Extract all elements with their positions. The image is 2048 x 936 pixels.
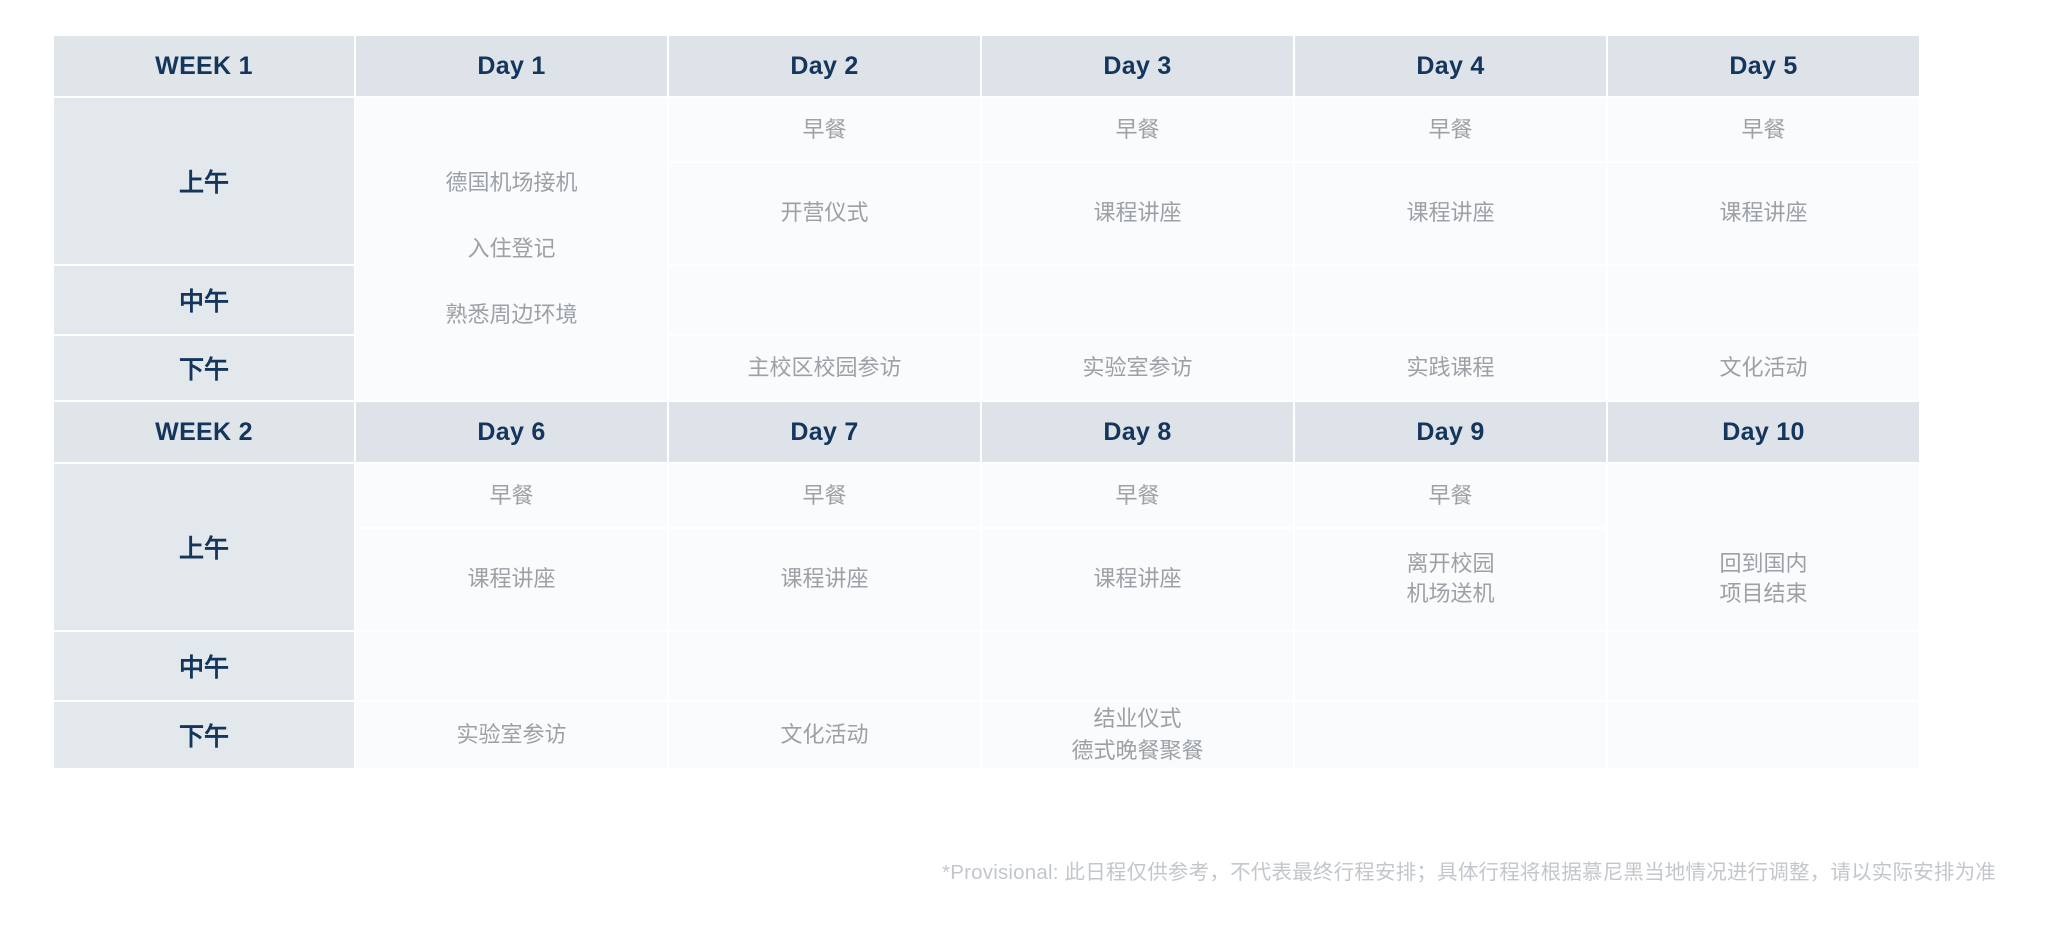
schedule-cell-afternoon: 结业仪式德式晚餐聚餐	[982, 702, 1293, 768]
meal-label: 早餐	[1295, 465, 1606, 529]
week-header-row: WEEK 2 Day 6 Day 7 Day 8 Day 9 Day 10	[54, 402, 1919, 462]
day-header: Day 1	[356, 36, 667, 96]
period-label-morning: 上午	[54, 98, 354, 264]
schedule-table-container: WEEK 1 Day 1 Day 2 Day 3 Day 4 Day 5 上午 …	[52, 34, 1908, 770]
activity-label: 课程讲座	[982, 529, 1293, 629]
day-header: Day 10	[1608, 402, 1919, 462]
activity-label: 课程讲座	[982, 163, 1293, 263]
schedule-cell-morning: 早餐 课程讲座	[982, 98, 1293, 264]
merged-day-cell: 德国机场接机 入住登记 熟悉周边环境	[356, 98, 667, 400]
day-header: Day 6	[356, 402, 667, 462]
activity-label: 回到国内项目结束	[1608, 529, 1919, 629]
schedule-cell-afternoon: 主校区校园参访	[669, 336, 980, 400]
schedule-cell-noon	[1608, 632, 1919, 700]
schedule-cell-morning: 早餐 开营仪式	[669, 98, 980, 264]
week-label: WEEK 2	[54, 402, 354, 462]
schedule-cell-afternoon	[1295, 702, 1606, 768]
week-label: WEEK 1	[54, 36, 354, 96]
period-row-noon: 中午	[54, 266, 1919, 334]
activity-label: 课程讲座	[356, 529, 667, 629]
schedule-cell-afternoon: 实验室参访	[356, 702, 667, 768]
meal-label: 早餐	[1295, 99, 1606, 163]
week-header-row: WEEK 1 Day 1 Day 2 Day 3 Day 4 Day 5	[54, 36, 1919, 96]
period-label-noon: 中午	[54, 632, 354, 700]
itinerary-table: WEEK 1 Day 1 Day 2 Day 3 Day 4 Day 5 上午 …	[52, 34, 1921, 770]
activity-label: 课程讲座	[669, 529, 980, 629]
schedule-cell-morning: 早餐 课程讲座	[669, 464, 980, 630]
activity-label: 课程讲座	[1608, 163, 1919, 263]
period-label-afternoon: 下午	[54, 702, 354, 768]
schedule-cell-noon	[1608, 266, 1919, 334]
day-header: Day 3	[982, 36, 1293, 96]
schedule-cell-noon	[982, 266, 1293, 334]
period-row-morning: 上午 早餐 课程讲座 早餐 课程讲座	[54, 464, 1919, 630]
schedule-cell-noon	[669, 266, 980, 334]
meal-label: 早餐	[669, 99, 980, 163]
schedule-cell-noon	[1295, 266, 1606, 334]
meal-label: 早餐	[982, 99, 1293, 163]
merged-day-line: 德国机场接机	[445, 167, 577, 199]
provisional-footnote: *Provisional: 此日程仅供参考，不代表最终行程安排；具体行程将根据慕…	[0, 855, 1996, 885]
day-header: Day 9	[1295, 402, 1606, 462]
schedule-cell-noon	[356, 632, 667, 700]
meal-label: 早餐	[669, 465, 980, 529]
schedule-cell-afternoon: 实践课程	[1295, 336, 1606, 400]
schedule-cell-afternoon: 文化活动	[669, 702, 980, 768]
merged-day-line: 熟悉周边环境	[445, 299, 577, 331]
schedule-cell-afternoon: 实验室参访	[982, 336, 1293, 400]
period-label-morning: 上午	[54, 464, 354, 630]
period-row-afternoon: 下午 实验室参访 文化活动 结业仪式德式晚餐聚餐	[54, 702, 1919, 768]
schedule-page: WEEK 1 Day 1 Day 2 Day 3 Day 4 Day 5 上午 …	[0, 0, 2048, 936]
activity-label: 课程讲座	[1295, 163, 1606, 263]
schedule-cell-noon	[669, 632, 980, 700]
period-row-morning: 上午 德国机场接机 入住登记 熟悉周边环境 早餐 开营仪式	[54, 98, 1919, 264]
day-header: Day 5	[1608, 36, 1919, 96]
meal-label: 早餐	[982, 465, 1293, 529]
day-header: Day 7	[669, 402, 980, 462]
activity-label: 开营仪式	[669, 163, 980, 263]
schedule-cell-morning: 早餐 课程讲座	[982, 464, 1293, 630]
merged-day-line: 入住登记	[467, 233, 555, 265]
meal-label: 早餐	[356, 465, 667, 529]
schedule-cell-afternoon	[1608, 702, 1919, 768]
schedule-cell-noon	[1295, 632, 1606, 700]
schedule-cell-morning: 回到国内项目结束	[1608, 464, 1919, 630]
day-header: Day 4	[1295, 36, 1606, 96]
day-header: Day 2	[669, 36, 980, 96]
meal-label: 早餐	[1608, 99, 1919, 163]
schedule-cell-morning: 早餐 离开校园机场送机	[1295, 464, 1606, 630]
activity-label: 离开校园机场送机	[1295, 529, 1606, 629]
schedule-cell-morning: 早餐 课程讲座	[1295, 98, 1606, 264]
schedule-cell-morning: 早餐 课程讲座	[1608, 98, 1919, 264]
schedule-cell-afternoon: 文化活动	[1608, 336, 1919, 400]
schedule-cell-morning: 早餐 课程讲座	[356, 464, 667, 630]
schedule-cell-noon	[982, 632, 1293, 700]
table-body: WEEK 1 Day 1 Day 2 Day 3 Day 4 Day 5 上午 …	[54, 36, 1919, 768]
period-row-afternoon: 下午 主校区校园参访 实验室参访 实践课程 文化活动	[54, 336, 1919, 400]
day-header: Day 8	[982, 402, 1293, 462]
period-label-noon: 中午	[54, 266, 354, 334]
period-row-noon: 中午	[54, 632, 1919, 700]
period-label-afternoon: 下午	[54, 336, 354, 400]
